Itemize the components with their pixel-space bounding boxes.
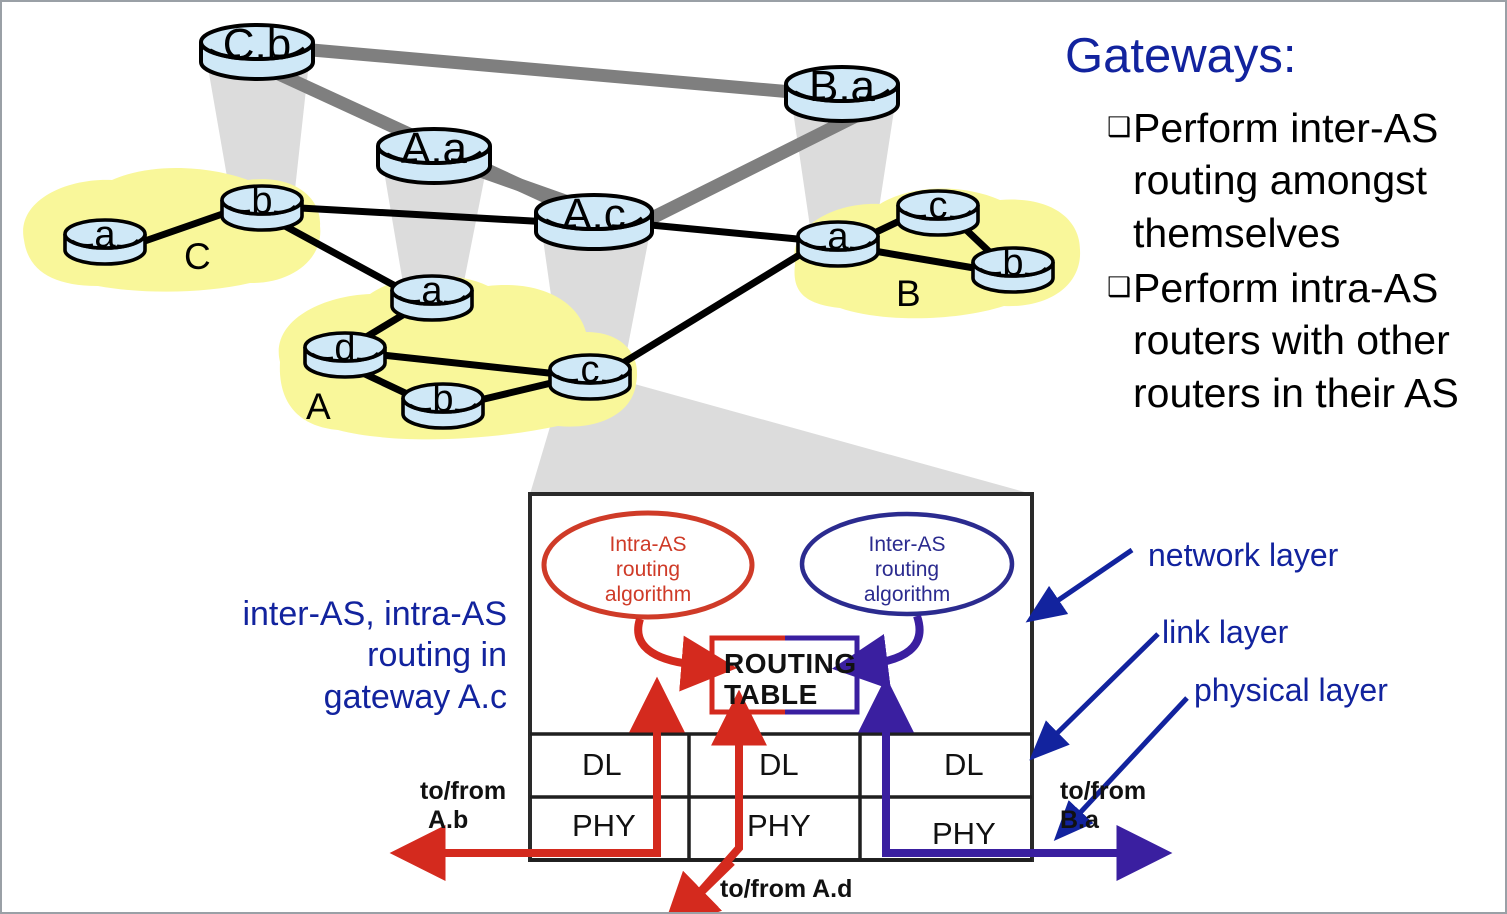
intra-as-algorithm-label: Intra-AS routing algorithm [553, 533, 743, 607]
inter-label-line-2: routing [812, 558, 1002, 583]
as-label-a: A [306, 386, 331, 428]
port-label-right: to/from B.a [1060, 777, 1146, 835]
port-left-line-1: to/from [420, 777, 506, 806]
gateways-bullet-2-text: Perform intra-AS routers with other rout… [1133, 262, 1507, 419]
link-a-c-ba [618, 246, 814, 366]
stack-col-2-phy: PHY [747, 808, 811, 844]
router-label-a-d: d [315, 327, 375, 370]
router-label-c-a: a [75, 214, 135, 257]
router-label-b-c: c [908, 185, 968, 228]
gateways-heading: Gateways: [1065, 28, 1296, 84]
detail-caption-line-3: gateway A.c [182, 677, 507, 718]
intra-label-line-2: routing [553, 558, 743, 583]
router-label-ba: B.a [792, 62, 892, 112]
stack-col-1-phy: PHY [572, 808, 636, 844]
router-label-b-a: a [808, 216, 868, 259]
router-label-b-b: b [983, 242, 1043, 285]
port-label-left: to/from A.b [420, 777, 506, 835]
annotation-physical-layer: physical layer [1194, 672, 1388, 709]
port-right-line-2: B.a [1060, 806, 1146, 835]
stack-col-3-phy: PHY [932, 816, 996, 852]
router-label-c-b: b [232, 180, 292, 223]
bullet-square-icon: ❑ [1107, 274, 1133, 301]
gateways-bullet-1: ❑ Perform inter-AS routing amongst thems… [1107, 102, 1507, 259]
gateways-bullet-1-text: Perform inter-AS routing amongst themsel… [1133, 102, 1507, 259]
link-cb-ba [312, 50, 792, 92]
inter-label-line-1: Inter-AS [812, 533, 1002, 558]
stack-col-3-dl: DL [944, 747, 984, 783]
routing-table-line-1: ROUTING [724, 648, 854, 679]
link-layer-leader [1040, 634, 1158, 750]
port-right-line-1: to/from [1060, 777, 1146, 806]
stack-col-2-dl: DL [759, 747, 799, 783]
detail-caption: inter-AS, intra-AS routing in gateway A.… [182, 594, 507, 718]
router-label-aa: A.a [384, 124, 484, 174]
intra-label-line-3: algorithm [553, 583, 743, 608]
router-label-a-a: a [402, 270, 462, 313]
as-label-c: C [184, 236, 211, 278]
detail-caption-line-2: routing in [182, 635, 507, 676]
routing-table-label: ROUTING TABLE [724, 648, 854, 711]
inter-label-line-3: algorithm [812, 583, 1002, 608]
annotation-link-layer: link layer [1162, 614, 1288, 651]
port-label-bottom: to/from A.d [720, 875, 852, 904]
bullet-square-icon: ❑ [1107, 114, 1133, 141]
network-layer-leader [1038, 550, 1132, 614]
router-label-a-c: c [560, 349, 620, 392]
intra-label-line-1: Intra-AS [553, 533, 743, 558]
inter-as-algorithm-label: Inter-AS routing algorithm [812, 533, 1002, 607]
stack-col-1-dl: DL [582, 747, 622, 783]
router-label-a-b: b [413, 378, 473, 421]
port-bottom-line-1: to/from A.d [720, 875, 852, 904]
port-left-line-2: A.b [428, 806, 506, 835]
router-label-ac: A.c [544, 190, 644, 240]
detail-caption-line-1: inter-AS, intra-AS [182, 594, 507, 635]
link-ac-b-a [640, 224, 808, 240]
routing-table-line-2: TABLE [724, 679, 854, 710]
as-label-b: B [896, 273, 921, 315]
slide-canvas: C.b B.a A.a A.c a b a d b c a c b C A B … [0, 0, 1507, 914]
gateways-bullet-2: ❑ Perform intra-AS routers with other ro… [1107, 262, 1507, 419]
router-label-cb: C.b [207, 20, 307, 70]
annotation-network-layer: network layer [1148, 537, 1338, 574]
